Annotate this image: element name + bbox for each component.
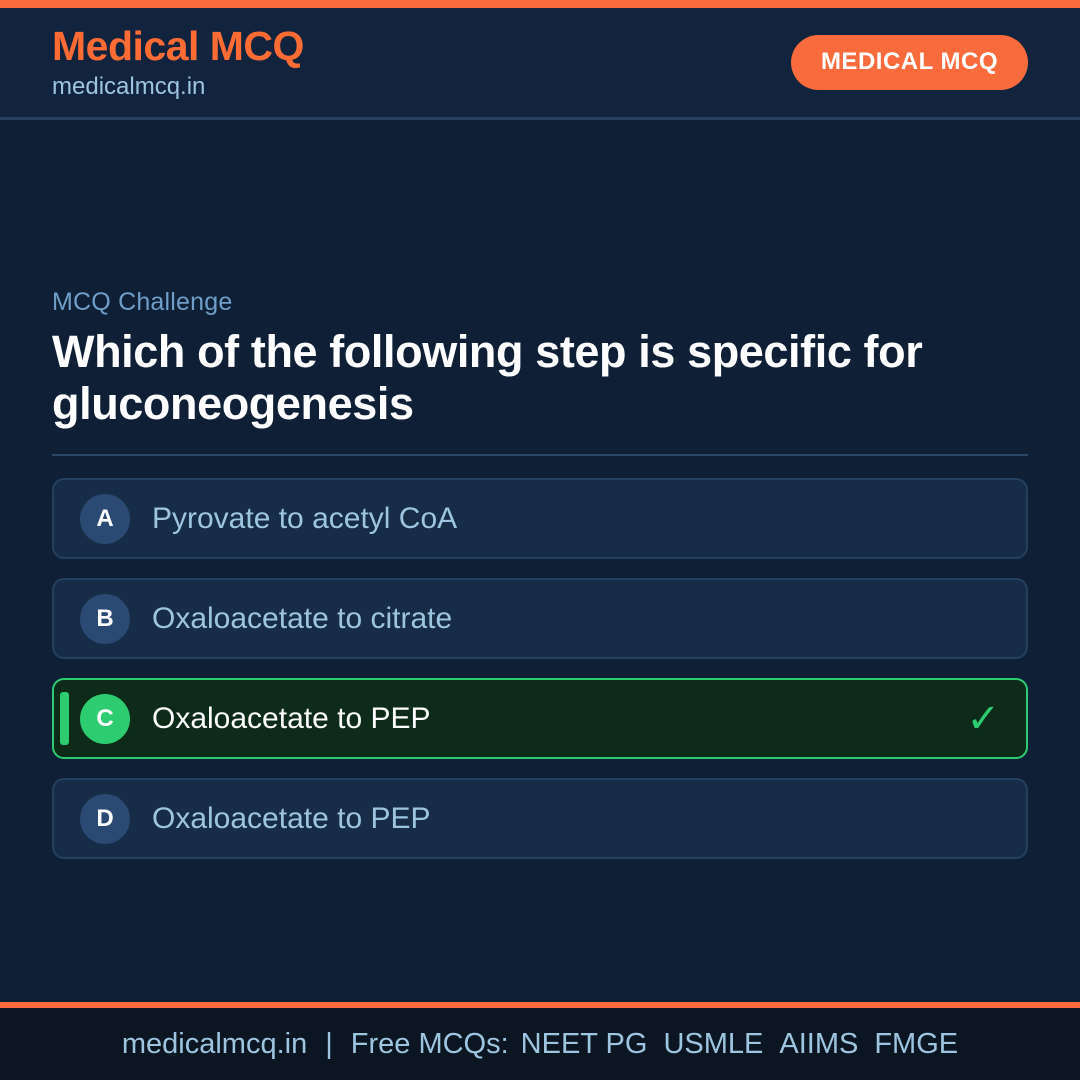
footer-exam-neet-pg: NEET PG — [521, 1028, 648, 1061]
option-c[interactable]: C Oxaloacetate to PEP ✓ — [52, 678, 1028, 759]
check-icon: ✓ — [966, 699, 1000, 739]
footer-site: medicalmcq.in — [122, 1028, 307, 1061]
footer-separator: | — [307, 1028, 351, 1061]
option-b[interactable]: B Oxaloacetate to citrate ✓ — [52, 578, 1028, 659]
option-letter-badge: B — [80, 594, 130, 644]
footer-text: medicalmcq.in | Free MCQs: NEET PG USMLE… — [122, 1028, 958, 1061]
header-badge: MEDICAL MCQ — [791, 35, 1028, 90]
correct-accent-bar — [60, 692, 69, 745]
option-d[interactable]: D Oxaloacetate to PEP ✓ — [52, 778, 1028, 859]
question-text: Which of the following step is specific … — [52, 326, 952, 430]
question-block: MCQ Challenge Which of the following ste… — [52, 288, 1028, 430]
top-accent-rule — [0, 0, 1080, 8]
brand-url: medicalmcq.in — [52, 75, 304, 99]
brand-block: Medical MCQ medicalmcq.in — [52, 26, 304, 99]
question-divider — [52, 454, 1028, 456]
footer-exam-aiims: AIIMS — [779, 1028, 858, 1061]
main-content: MCQ Challenge Which of the following ste… — [0, 120, 1080, 1002]
footer-exam-list: NEET PG USMLE AIIMS FMGE — [509, 1028, 958, 1061]
options-list: A Pyrovate to acetyl CoA ✓ B Oxaloacetat… — [52, 478, 1028, 859]
mcq-card: Medical MCQ medicalmcq.in MEDICAL MCQ MC… — [0, 0, 1080, 1080]
footer-exam-fmge: FMGE — [874, 1028, 958, 1061]
option-letter-badge: A — [80, 494, 130, 544]
option-text: Oxaloacetate to citrate — [152, 602, 452, 636]
page-header: Medical MCQ medicalmcq.in MEDICAL MCQ — [0, 8, 1080, 120]
footer-prefix: Free MCQs: — [351, 1028, 509, 1061]
option-a[interactable]: A Pyrovate to acetyl CoA ✓ — [52, 478, 1028, 559]
option-text: Oxaloacetate to PEP — [152, 702, 431, 736]
option-text: Oxaloacetate to PEP — [152, 802, 431, 836]
option-letter-badge: C — [80, 694, 130, 744]
option-text: Pyrovate to acetyl CoA — [152, 502, 457, 536]
footer-exam-usmle: USMLE — [663, 1028, 763, 1061]
option-letter-badge: D — [80, 794, 130, 844]
eyebrow-label: MCQ Challenge — [52, 288, 1028, 317]
page-footer: medicalmcq.in | Free MCQs: NEET PG USMLE… — [0, 1002, 1080, 1080]
brand-title: Medical MCQ — [52, 26, 304, 67]
